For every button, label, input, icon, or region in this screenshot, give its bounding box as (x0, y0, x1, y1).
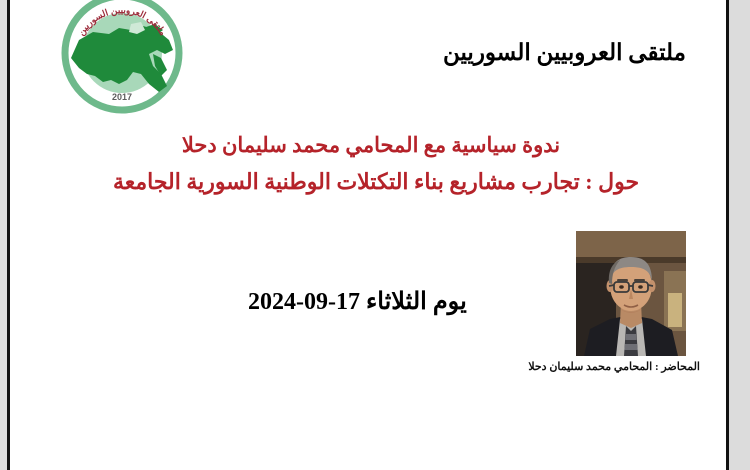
speaker-caption: المحاضر : المحامي محمد سليمان دحلا (540, 360, 700, 373)
organization-logo: ملتقى العروبيين السوريين 2017 (57, 0, 187, 118)
organization-name: ملتقى العروبيين السوريين (443, 40, 686, 66)
document-viewer: ملتقى العروبيين السوريين 2017 ملتقى العر… (0, 0, 750, 470)
flyer-page: ملتقى العروبيين السوريين 2017 ملتقى العر… (7, 0, 729, 470)
event-title-line-1: ندوة سياسية مع المحامي محمد سليمان دحلا (66, 128, 686, 162)
speaker-photo (576, 231, 686, 356)
event-title-block: ندوة سياسية مع المحامي محمد سليمان دحلا … (66, 128, 686, 202)
logo-year-text: 2017 (112, 92, 132, 102)
viewer-gutter-left (0, 0, 7, 470)
event-date: يوم الثلاثاء 17-09-2024 (248, 287, 467, 316)
viewer-gutter-right (729, 0, 750, 470)
event-title-line-2: حول : تجارب مشاريع بناء التكتلات الوطنية… (66, 162, 686, 202)
